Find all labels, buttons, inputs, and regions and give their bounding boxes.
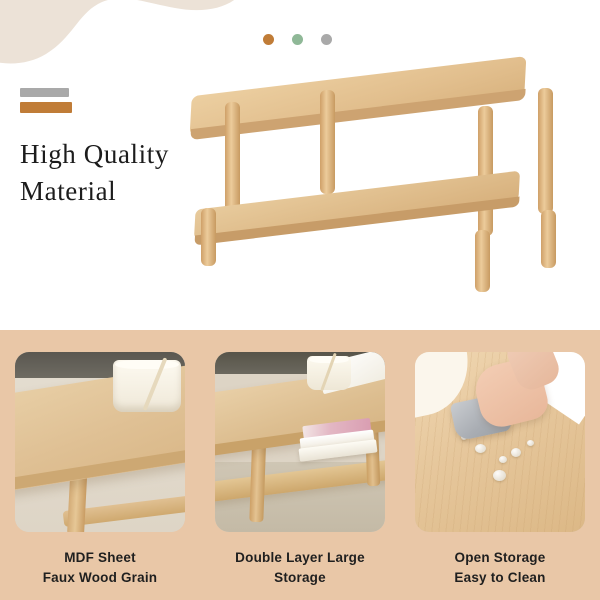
dot-green	[292, 34, 303, 45]
table-leg-back-right	[320, 90, 335, 194]
caption-line-2: Storage	[207, 568, 393, 588]
feature-panel-double-layer: Double Layer Large Storage	[215, 352, 385, 532]
caption-line-1: Open Storage	[455, 550, 546, 565]
hero-section: High Quality Material	[0, 0, 600, 330]
caption-line-2: Faux Wood Grain	[7, 568, 193, 588]
features-section: MDF Sheet Faux Wood Grain Double Layer L…	[0, 330, 600, 600]
feature-caption-double-layer: Double Layer Large Storage	[207, 548, 393, 587]
caption-line-1: Double Layer Large	[235, 550, 365, 565]
table-foot-front-left	[201, 208, 216, 266]
caption-line-1: MDF Sheet	[64, 550, 136, 565]
table-foot-far-right	[541, 210, 556, 268]
feature-image-double-layer	[215, 352, 385, 532]
feature-caption-mdf-sheet: MDF Sheet Faux Wood Grain	[7, 548, 193, 587]
accent-bars	[20, 88, 72, 113]
dot-indicator-group	[263, 34, 332, 45]
dot-gray	[321, 34, 332, 45]
table-leg-far-right	[538, 88, 553, 214]
caption-line-2: Easy to Clean	[407, 568, 593, 588]
headline-line-1: High Quality	[20, 139, 169, 169]
feature-panel-mdf-sheet: MDF Sheet Faux Wood Grain	[15, 352, 185, 532]
table-foot-front-right	[475, 230, 490, 292]
feature-image-easy-clean	[415, 352, 585, 532]
dot-orange	[263, 34, 274, 45]
feature-image-mdf-sheet	[15, 352, 185, 532]
water-droplet	[527, 440, 534, 446]
accent-bar-gray	[20, 88, 69, 97]
water-droplet	[475, 444, 486, 453]
water-droplet	[493, 470, 506, 481]
water-droplet	[499, 456, 507, 463]
feature-caption-easy-clean: Open Storage Easy to Clean	[407, 548, 593, 587]
feature-panel-easy-clean: Open Storage Easy to Clean	[415, 352, 585, 532]
product-image-coffee-table	[175, 60, 595, 325]
table-leg-front-right	[478, 106, 493, 236]
water-droplet	[511, 448, 521, 457]
accent-bar-orange	[20, 102, 72, 113]
table-leg-back-left	[225, 102, 240, 214]
